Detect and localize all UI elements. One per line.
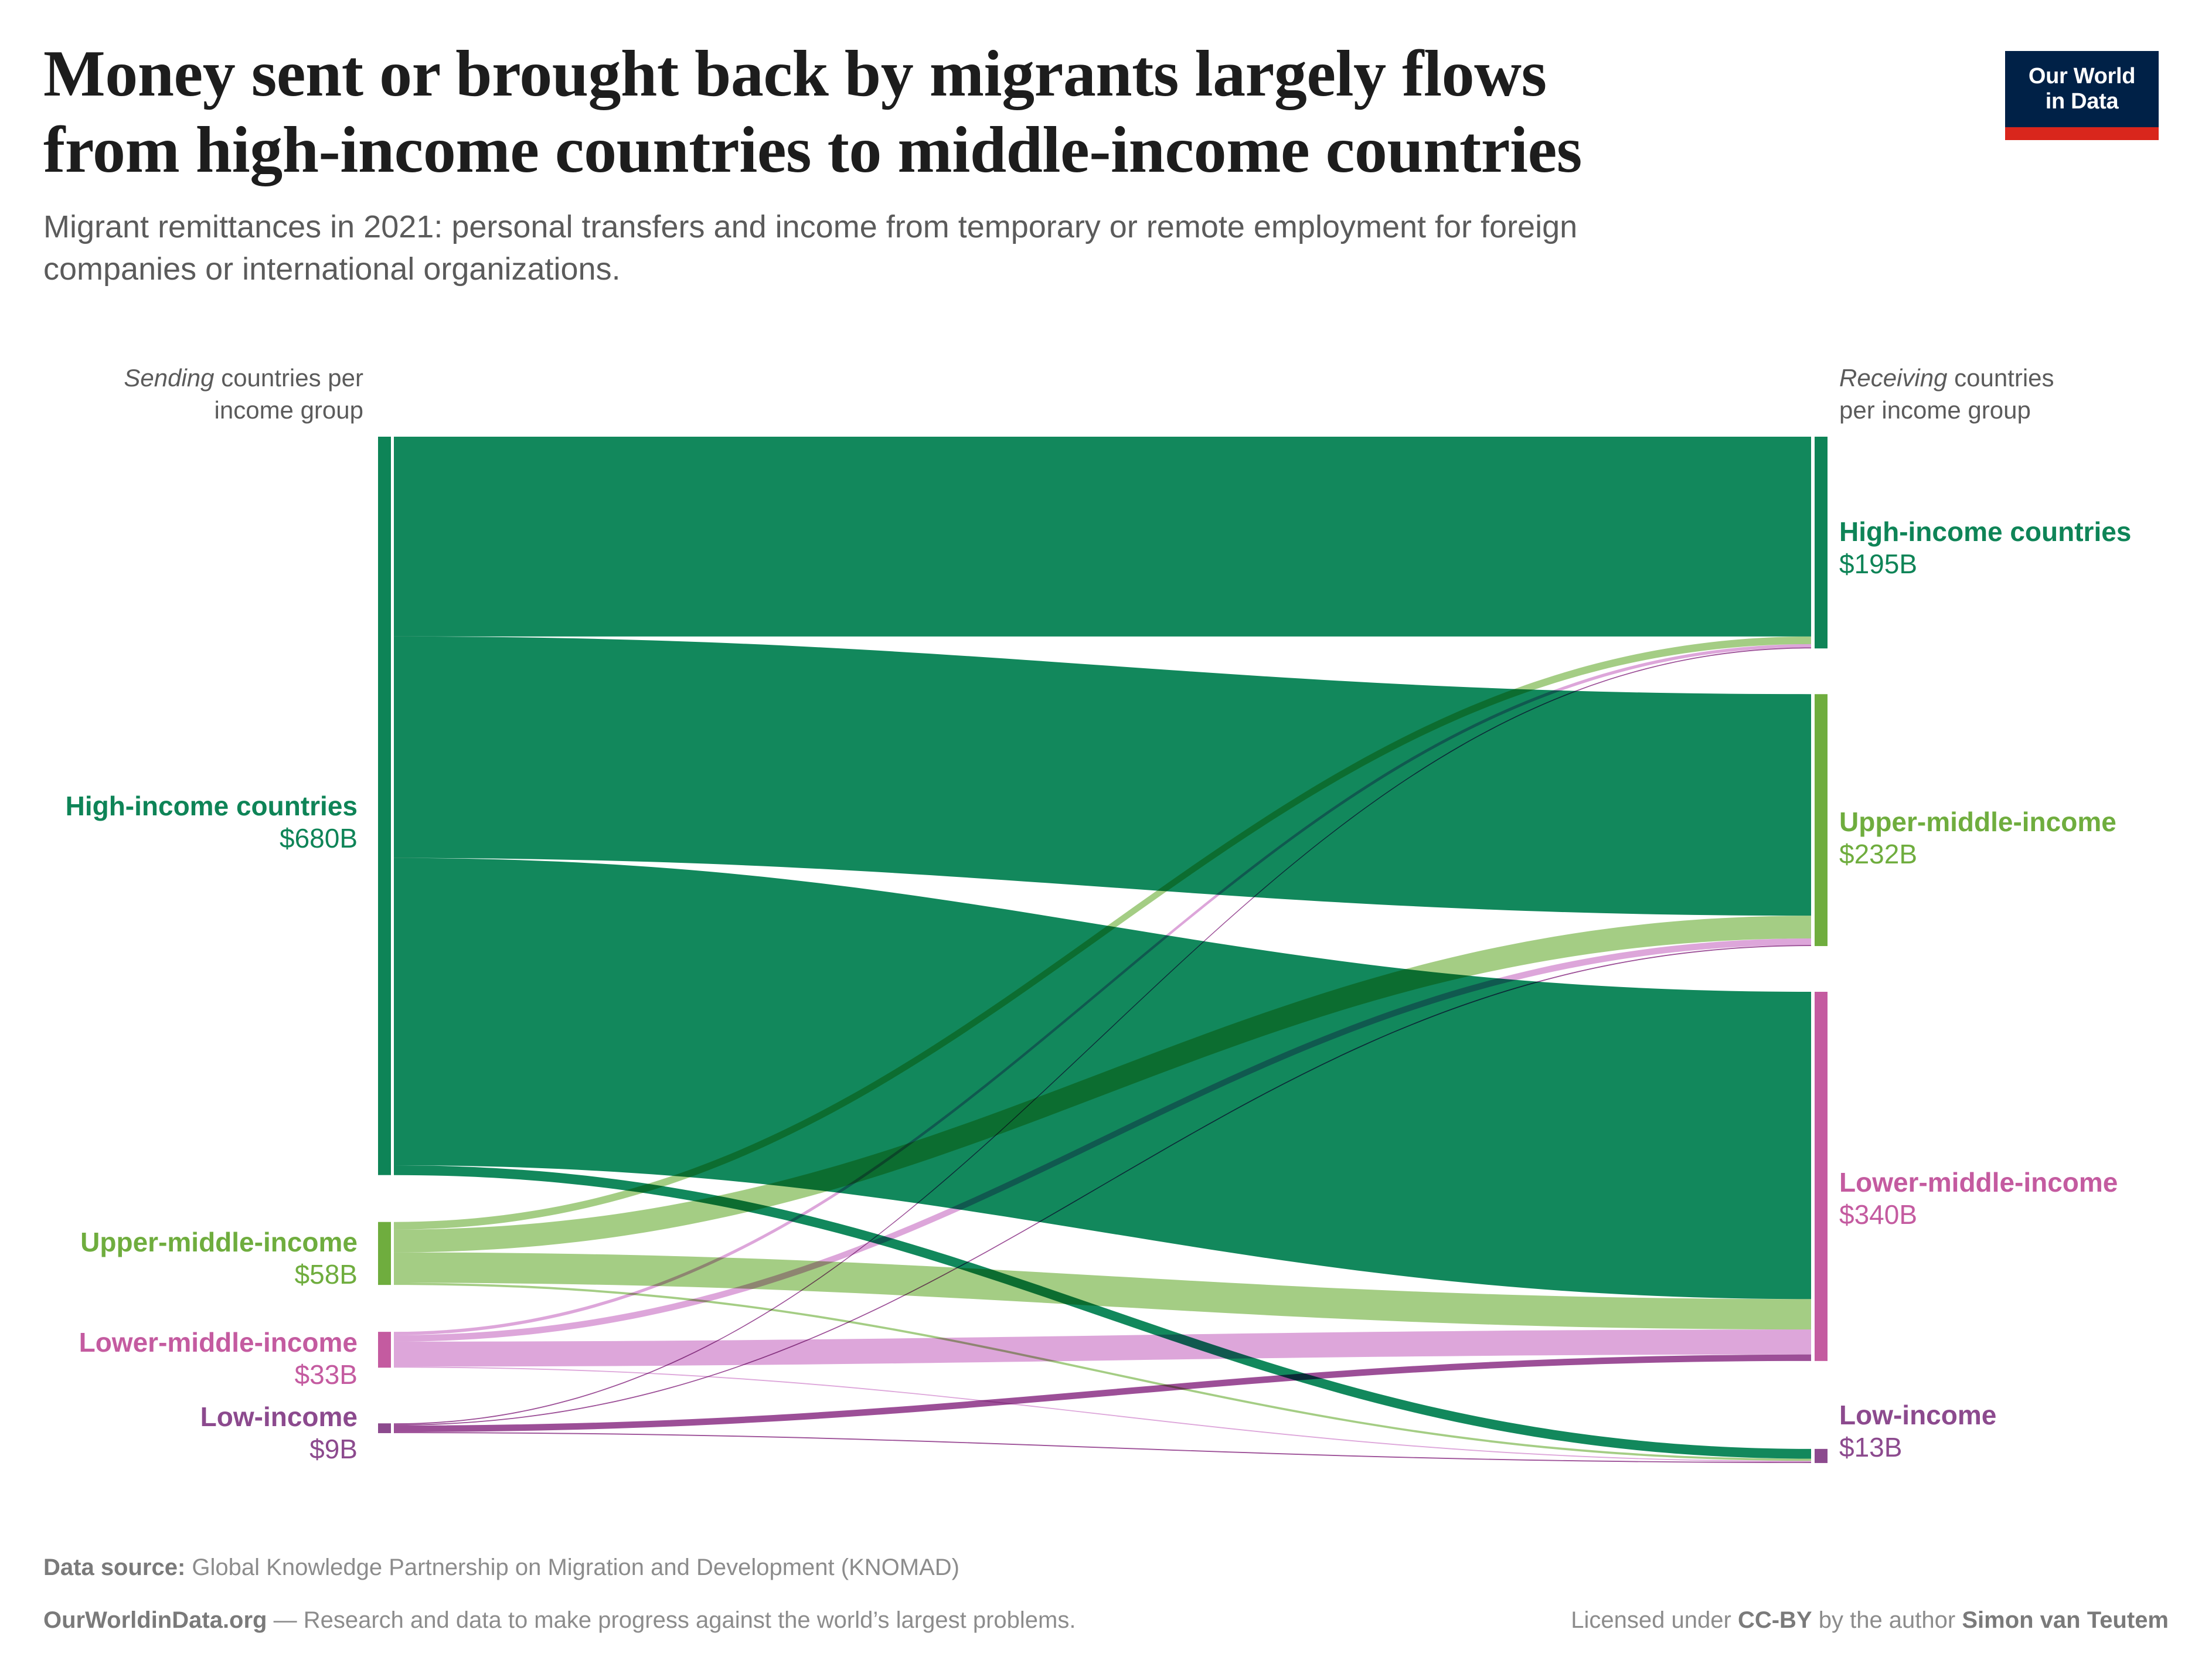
license-type[interactable]: CC-BY (1738, 1607, 1812, 1633)
node-value: $9B (0, 1433, 358, 1465)
node-value: $232B (1839, 838, 2212, 870)
sankey-node-bar[interactable] (378, 1423, 391, 1433)
sankey-node-bar[interactable] (1815, 437, 1828, 648)
license-line: Licensed under CC-BY by the author Simon… (0, 1607, 2169, 1634)
data-source-label: Data source: (43, 1554, 185, 1580)
node-label-receiving-upper-middle-income[interactable]: Upper-middle-income $232B (1839, 806, 2212, 870)
node-value: $58B (0, 1258, 358, 1291)
node-label-sending-high-income[interactable]: High-income countries $680B (0, 790, 358, 855)
node-name: Low-income (1839, 1399, 2212, 1431)
node-name: High-income countries (1839, 516, 2212, 548)
sankey-node-bar[interactable] (1815, 1449, 1828, 1463)
node-value: $195B (1839, 548, 2212, 580)
license-middle: by the author (1812, 1607, 1962, 1633)
data-source-line: Data source: Global Knowledge Partnershi… (43, 1554, 959, 1581)
node-label-sending-lower-middle-income[interactable]: Lower-middle-income $33B (0, 1326, 358, 1391)
sankey-node-bar[interactable] (1815, 992, 1828, 1361)
node-label-sending-low-income[interactable]: Low-income $9B (0, 1401, 358, 1465)
node-name: High-income countries (0, 790, 358, 822)
node-value: $13B (1839, 1431, 2212, 1464)
node-value: $340B (1839, 1199, 2212, 1231)
sankey-node-bar[interactable] (378, 437, 391, 1175)
license-prefix: Licensed under (1571, 1607, 1738, 1633)
node-name: Lower-middle-income (1839, 1166, 2212, 1199)
sankey-link[interactable] (394, 437, 1811, 637)
node-name: Lower-middle-income (0, 1326, 358, 1359)
node-name: Upper-middle-income (0, 1226, 358, 1258)
node-name: Low-income (0, 1401, 358, 1433)
sankey-node-bar[interactable] (378, 1332, 391, 1368)
node-name: Upper-middle-income (1839, 806, 2212, 838)
sankey-link[interactable] (394, 1355, 1811, 1432)
node-label-sending-upper-middle-income[interactable]: Upper-middle-income $58B (0, 1226, 358, 1291)
chart-page: Money sent or brought back by migrants l… (0, 0, 2212, 1660)
node-label-receiving-high-income[interactable]: High-income countries $195B (1839, 516, 2212, 580)
sankey-node-bar[interactable] (1815, 694, 1828, 946)
node-label-receiving-low-income[interactable]: Low-income $13B (1839, 1399, 2212, 1464)
sankey-node-bar[interactable] (378, 1222, 391, 1285)
node-value: $33B (0, 1359, 358, 1391)
node-label-receiving-lower-middle-income[interactable]: Lower-middle-income $340B (1839, 1166, 2212, 1231)
license-author: Simon van Teutem (1962, 1607, 2169, 1633)
data-source-text: Global Knowledge Partnership on Migratio… (185, 1554, 959, 1580)
node-value: $680B (0, 822, 358, 855)
